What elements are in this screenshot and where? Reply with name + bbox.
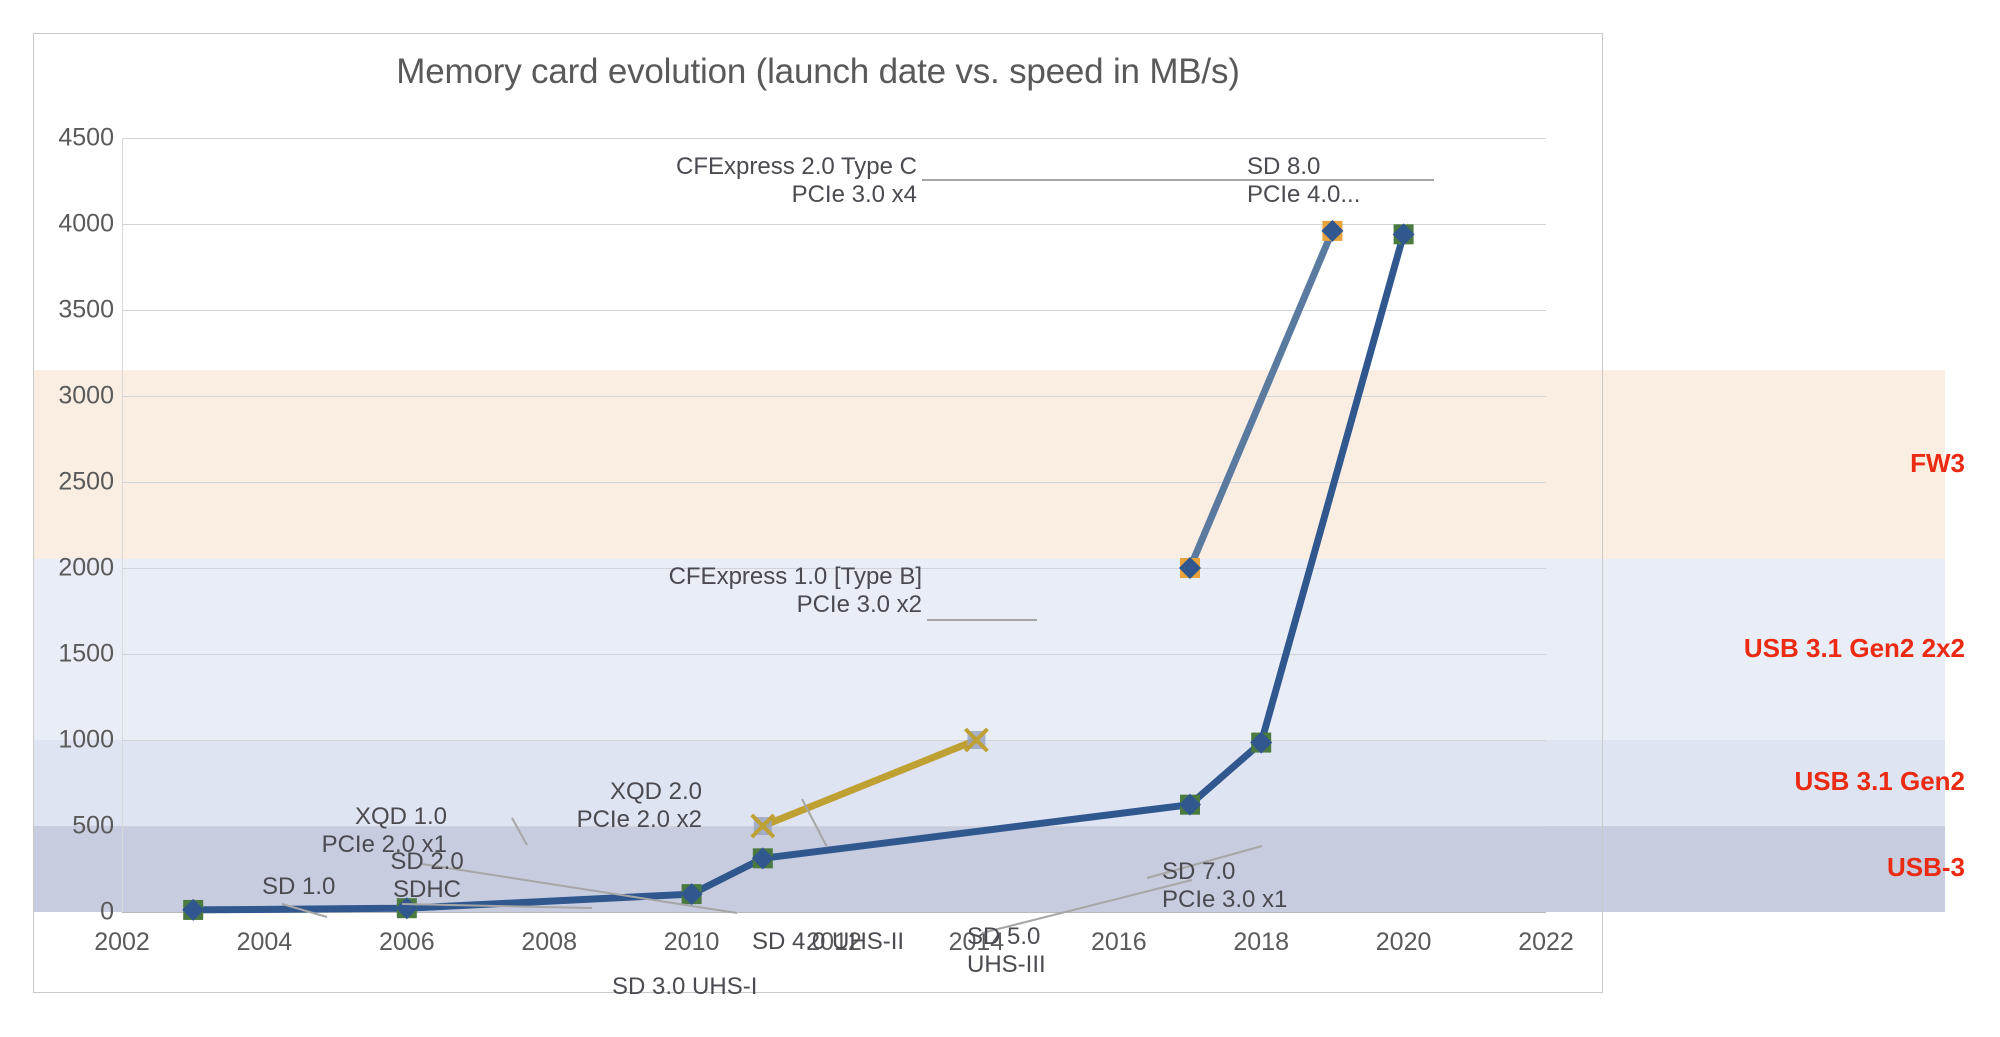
data-label-line-1: XQD 1.0	[322, 803, 447, 831]
x-tick-label-2022: 2022	[1518, 928, 1574, 957]
x-tick-label-2008: 2008	[521, 928, 577, 957]
chart-title: Memory card evolution (launch date vs. s…	[33, 52, 1603, 92]
x-tick-label-2010: 2010	[664, 928, 720, 957]
leader-line-layer	[122, 138, 1546, 912]
data-label-line-1: CFExpress 2.0 Type C	[676, 153, 917, 181]
y-tick-label-2500: 2500	[58, 468, 114, 497]
data-label-line-1: SD 1.0	[262, 873, 335, 901]
chart-canvas: FW3USB 3.1 Gen2 2x2USB 3.1 Gen2USB-3 Mem…	[0, 0, 2000, 1037]
data-label-line-2: SDHC	[390, 876, 463, 904]
data-label-line-2: PCIe 2.0 x1	[322, 831, 447, 859]
data-label: SD 1.0	[262, 873, 335, 901]
data-label-line-2: UHS-III	[967, 951, 1046, 979]
y-tick-label-2000: 2000	[58, 554, 114, 583]
data-label-line-2: PCIe 3.0 x4	[676, 181, 917, 209]
data-label: SD 7.0PCIe 3.0 x1	[1162, 858, 1287, 915]
leader-line	[802, 799, 827, 847]
x-tick-label-2016: 2016	[1091, 928, 1147, 957]
speed-band-label-fw3: FW3	[1910, 448, 1965, 479]
plot-area: 050010001500200025003000350040004500 200…	[122, 138, 1546, 912]
data-label: XQD 2.0PCIe 2.0 x2	[577, 778, 702, 835]
x-tick-label-2006: 2006	[379, 928, 435, 957]
data-label-line-1: CFExpress 1.0 [Type B]	[669, 563, 922, 591]
data-label-line-1: SD 5.0	[967, 923, 1046, 951]
data-label: SD 3.0 UHS-I	[612, 973, 757, 1001]
data-label: CFExpress 2.0 Type CPCIe 3.0 x4	[676, 153, 917, 210]
y-tick-label-1500: 1500	[58, 640, 114, 669]
y-tick-label-3000: 3000	[58, 382, 114, 411]
y-tick-label-1000: 1000	[58, 726, 114, 755]
data-label-line-2: PCIe 2.0 x2	[577, 806, 702, 834]
data-label: SD 8.0PCIe 4.0...	[1247, 153, 1360, 210]
data-label: SD 4.0 UHS-II	[752, 928, 904, 956]
data-label-line-2: PCIe 3.0 x1	[1162, 886, 1287, 914]
speed-band-label-usb-3-1-gen2-2x2: USB 3.1 Gen2 2x2	[1744, 633, 1965, 664]
x-tick-label-2002: 2002	[94, 928, 150, 957]
data-label: CFExpress 1.0 [Type B]PCIe 3.0 x2	[669, 563, 922, 620]
speed-band-label-usb-3-1-gen2: USB 3.1 Gen2	[1794, 766, 1965, 797]
leader-line	[512, 818, 527, 845]
y-tick-label-4000: 4000	[58, 210, 114, 239]
data-label-line-2: PCIe 4.0...	[1247, 181, 1360, 209]
data-label: SD 5.0UHS-III	[967, 923, 1046, 980]
data-label-line-1: SD 7.0	[1162, 858, 1287, 886]
data-label-line-1: SD 8.0	[1247, 153, 1360, 181]
data-label-line-1: SD 3.0 UHS-I	[612, 973, 757, 1001]
data-label: XQD 1.0PCIe 2.0 x1	[322, 803, 447, 860]
x-tick-label-2004: 2004	[237, 928, 293, 957]
x-tick-label-2018: 2018	[1233, 928, 1289, 957]
data-label-line-1: SD 4.0 UHS-II	[752, 928, 904, 956]
y-tick-label-0: 0	[100, 898, 114, 927]
y-tick-label-3500: 3500	[58, 296, 114, 325]
y-tick-label-4500: 4500	[58, 124, 114, 153]
data-label-line-1: XQD 2.0	[577, 778, 702, 806]
data-label-line-2: PCIe 3.0 x2	[669, 591, 922, 619]
y-tick-label-500: 500	[72, 812, 114, 841]
speed-band-label-usb-3: USB-3	[1887, 852, 1965, 883]
x-tick-label-2020: 2020	[1376, 928, 1432, 957]
